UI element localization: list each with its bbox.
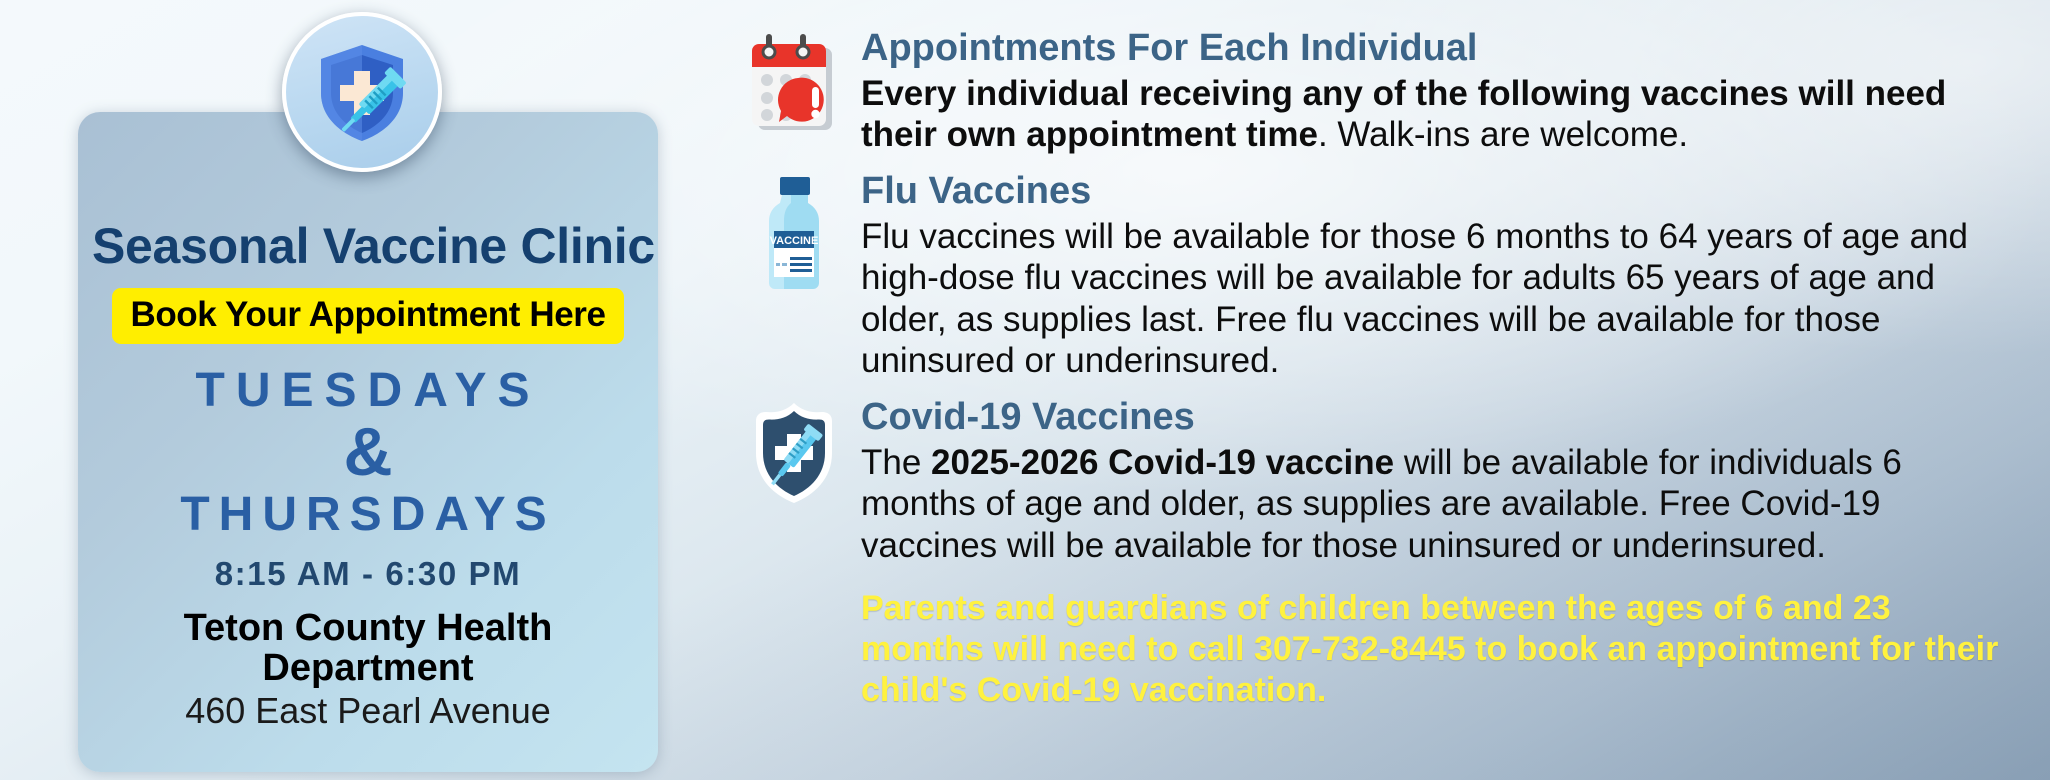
appointments-rest-text: . Walk-ins are welcome. — [1318, 115, 1688, 154]
info-sections: Appointments For Each Individual Every i… — [735, 28, 2015, 710]
section-covid-heading: Covid-19 Vaccines — [861, 397, 2015, 439]
covid-text-bold: 2025-2026 Covid-19 vaccine — [931, 443, 1394, 482]
covid-text-prefix: The — [861, 443, 931, 482]
section-covid: Covid-19 Vaccines The 2025-2026 Covid-19… — [735, 397, 2015, 566]
section-covid-body: Covid-19 Vaccines The 2025-2026 Covid-19… — [853, 397, 2015, 566]
section-appointments-text: Every individual receiving any of the fo… — [861, 73, 2015, 156]
parents-guardians-note: Parents and guardians of children betwee… — [735, 588, 2015, 710]
clinic-department: Teton County Health Department — [92, 609, 644, 688]
clinic-day-thursdays: THURSDAYS — [92, 490, 644, 541]
shield-syringe-icon — [282, 12, 442, 172]
section-appointments: Appointments For Each Individual Every i… — [735, 28, 2015, 155]
section-covid-text: The 2025-2026 Covid-19 vaccine will be a… — [861, 442, 2015, 566]
calendar-alert-icon — [735, 28, 853, 136]
section-flu-heading: Flu Vaccines — [861, 171, 2015, 213]
svg-text:VACCINE: VACCINE — [770, 235, 819, 247]
section-flu-text: Flu vaccines will be available for those… — [861, 216, 2015, 381]
clinic-day-ampersand: & — [92, 418, 644, 486]
section-flu: VACCINE Flu Vaccines Flu vaccines will b… — [735, 171, 2015, 381]
vaccine-clinic-banner: Seasonal Vaccine Clinic Book Your Appoin… — [0, 0, 2050, 780]
book-appointment-button[interactable]: Book Your Appointment Here — [112, 288, 623, 344]
clinic-day-tuesdays: TUESDAYS — [92, 366, 644, 417]
clinic-title: Seasonal Vaccine Clinic — [92, 220, 644, 273]
vaccine-vial-icon: VACCINE — [735, 171, 853, 293]
section-appointments-body: Appointments For Each Individual Every i… — [853, 28, 2015, 155]
clinic-content: Seasonal Vaccine Clinic Book Your Appoin… — [78, 220, 658, 731]
clinic-address: 460 East Pearl Avenue — [92, 692, 644, 731]
section-appointments-heading: Appointments For Each Individual — [861, 28, 2015, 70]
shield-syringe-icon — [735, 397, 853, 505]
section-flu-body: Flu Vaccines Flu vaccines will be availa… — [853, 171, 2015, 381]
clinic-hours: 8:15 AM - 6:30 PM — [92, 555, 644, 593]
clinic-info-card: Seasonal Vaccine Clinic Book Your Appoin… — [78, 112, 658, 772]
